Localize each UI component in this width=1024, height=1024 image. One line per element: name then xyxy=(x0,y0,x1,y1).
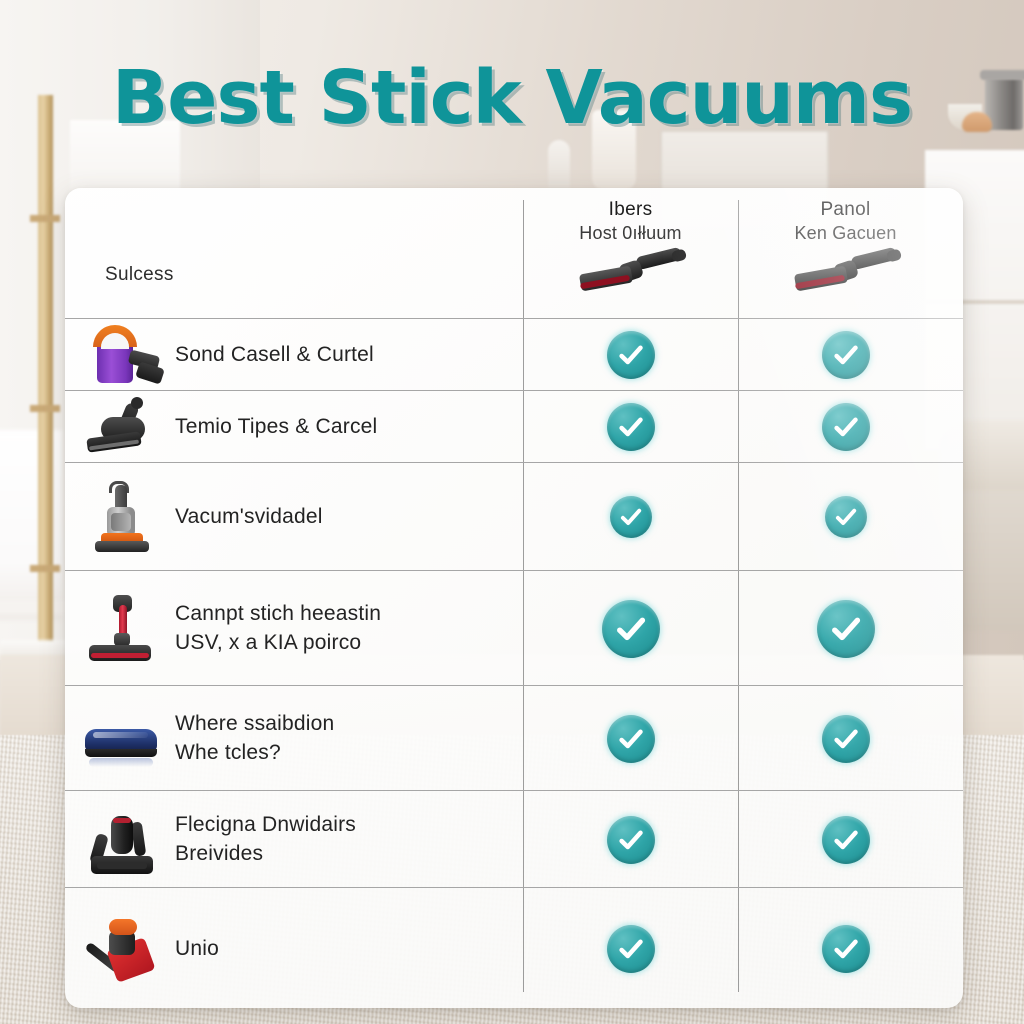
feature-label: Flecigna DnwidairsBreivides xyxy=(175,810,505,870)
check-icon xyxy=(817,600,875,658)
check-icon xyxy=(607,816,655,864)
blue-vacuum-icon xyxy=(79,703,163,775)
stick-vacuum-head-icon xyxy=(791,250,901,294)
feature-label: Temio Tipes & Carcel xyxy=(175,412,505,442)
ladder-rung xyxy=(30,565,60,572)
table-cell[interactable] xyxy=(523,888,738,1008)
check-icon xyxy=(607,403,655,451)
check-icon xyxy=(822,925,870,973)
check-icon xyxy=(602,600,660,658)
table-cell[interactable] xyxy=(738,571,953,686)
product-column-header-1[interactable]: Ibers Host 0ıłłuum xyxy=(523,198,738,294)
table-cell[interactable] xyxy=(738,791,953,888)
table-cell[interactable] xyxy=(523,791,738,888)
product-model: Ken Gacuen xyxy=(738,222,953,245)
product-model: Host 0ıłłuum xyxy=(523,222,738,245)
table-row[interactable]: Unio xyxy=(65,887,963,1008)
table-cell[interactable] xyxy=(523,391,738,463)
feature-label: Where ssaibdionWhe tcles? xyxy=(175,709,505,769)
table-cell[interactable] xyxy=(523,686,738,791)
table-cell[interactable] xyxy=(523,571,738,686)
table-cell[interactable] xyxy=(738,463,953,571)
table-header-row: Sulcess Ibers Host 0ıłłuum Panol Ken Gac… xyxy=(65,188,963,318)
check-icon xyxy=(822,331,870,379)
feature-label: Unio xyxy=(175,934,505,964)
cordless-vacuum-icon xyxy=(79,804,163,876)
stick-vacuum-icon xyxy=(79,593,163,665)
ladder-rung xyxy=(30,405,60,412)
product-brand: Ibers xyxy=(523,198,738,222)
red-vacuum-head-icon xyxy=(79,913,163,985)
ladder-rung xyxy=(30,215,60,222)
product-brand: Panol xyxy=(738,198,953,222)
table-cell[interactable] xyxy=(523,319,738,391)
table-cell[interactable] xyxy=(738,319,953,391)
check-icon xyxy=(607,715,655,763)
table-row[interactable]: Vacum'svidadel xyxy=(65,462,963,571)
table-cell[interactable] xyxy=(738,391,953,463)
feature-label: Vacum'svidadel xyxy=(175,502,505,532)
feature-label: Cannpt stich heeastinUSV, x a KIA poirco xyxy=(175,599,505,659)
check-icon xyxy=(607,925,655,973)
table-row[interactable]: Sond Casell & Curtel xyxy=(65,318,963,391)
check-icon xyxy=(825,496,867,538)
comparison-table-card: Sulcess Ibers Host 0ıłłuum Panol Ken Gac… xyxy=(65,188,963,1008)
table-row[interactable]: Where ssaibdionWhe tcles? xyxy=(65,685,963,791)
table-row[interactable]: Temio Tipes & Carcel xyxy=(65,390,963,463)
feature-label: Sond Casell & Curtel xyxy=(175,340,505,370)
page-title: Best Stick Vacuums xyxy=(0,55,1024,141)
product-column-header-2[interactable]: Panol Ken Gacuen xyxy=(738,198,953,294)
table-cell[interactable] xyxy=(523,463,738,571)
table-cell[interactable] xyxy=(738,686,953,791)
feature-column-header: Sulcess xyxy=(105,264,174,286)
check-icon xyxy=(822,715,870,763)
check-icon xyxy=(607,331,655,379)
check-icon xyxy=(610,496,652,538)
wood-ladder xyxy=(38,95,53,695)
table-cell[interactable] xyxy=(738,888,953,1008)
table-row[interactable]: Cannpt stich heeastinUSV, x a KIA poirco xyxy=(65,570,963,686)
handheld-vacuum-icon xyxy=(79,391,163,463)
table-row[interactable]: Flecigna DnwidairsBreivides xyxy=(65,790,963,888)
stick-vacuum-head-icon xyxy=(576,250,686,294)
check-icon xyxy=(822,403,870,451)
upright-vacuum-icon xyxy=(79,481,163,553)
check-icon xyxy=(822,816,870,864)
canister-vacuum-icon xyxy=(79,319,163,391)
